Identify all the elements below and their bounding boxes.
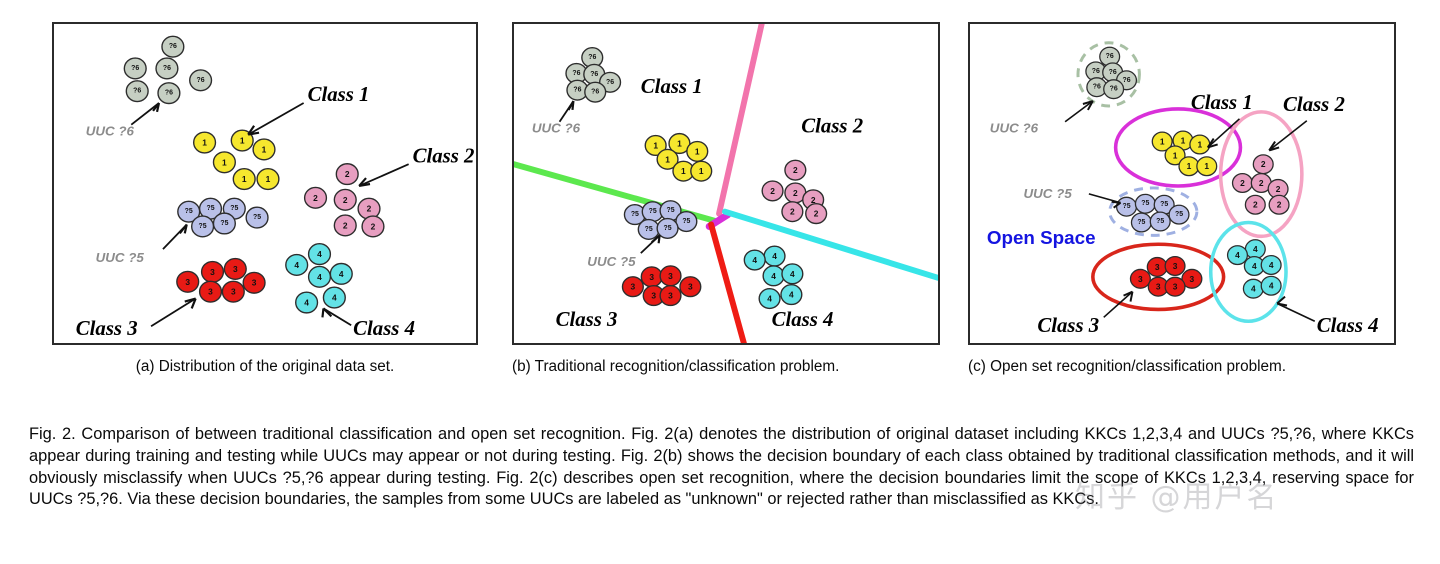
svg-text:2: 2: [343, 195, 348, 205]
svg-text:4: 4: [1253, 244, 1258, 254]
cluster-class1: 1 1 1 1 1 1: [645, 134, 711, 181]
cluster-class4: 4 4 4 4 4 4: [286, 244, 352, 313]
svg-text:?5: ?5: [649, 208, 657, 215]
svg-text:1: 1: [653, 140, 658, 150]
svg-text:?5: ?5: [1175, 211, 1183, 218]
cluster-class4: 4 4 4 4 4 4: [1228, 240, 1281, 298]
cluster-class3: 3 3 3 3 3 3: [177, 259, 265, 302]
svg-text:?6: ?6: [1093, 84, 1101, 91]
svg-text:1: 1: [677, 139, 682, 149]
svg-text:3: 3: [1190, 274, 1195, 284]
svg-text:2: 2: [1261, 159, 1266, 169]
svg-text:1: 1: [262, 144, 267, 154]
svg-text:2: 2: [1253, 200, 1258, 210]
svg-text:2: 2: [1276, 184, 1281, 194]
svg-text:?5: ?5: [631, 211, 639, 218]
panel-b-class3-label: Class 3: [556, 308, 618, 331]
svg-text:?6: ?6: [591, 89, 599, 96]
svg-text:?5: ?5: [1137, 219, 1145, 226]
arrow-uuc5: [163, 224, 187, 249]
cluster-uuc5: ?5 ?5 ?5 ?5 ?5 ?5: [624, 201, 696, 240]
subcaption-b: (b) Traditional recognition/classificati…: [512, 357, 942, 376]
svg-text:?6: ?6: [1106, 53, 1114, 60]
arrow-uuc5: [1089, 194, 1121, 208]
panel-b: ?6 ?6 ?6 ?6 ?6 ?6 1 1 1 1 1 1 2 2 2 2: [512, 22, 940, 345]
svg-text:1: 1: [242, 174, 247, 184]
cluster-class3: 3 3 3 3 3 3: [622, 266, 700, 306]
panel-b-uuc6-label: UUC ?6: [532, 121, 581, 136]
svg-text:?6: ?6: [588, 54, 596, 61]
panel-b-class4-label: Class 4: [772, 308, 834, 331]
panel-a-class4-label: Class 4: [353, 317, 415, 340]
panel-a-class3-label: Class 3: [76, 317, 138, 340]
svg-text:4: 4: [294, 260, 299, 270]
arrow-class4: [1277, 297, 1315, 322]
panel-a: ?6 ?6 ?6 ?6 ?6 ?6 1 1 1 1 1 1 2 2 2 2: [52, 22, 478, 345]
svg-text:2: 2: [814, 209, 819, 219]
figure-caption: Fig. 2. Comparison of between traditiona…: [29, 424, 1414, 511]
svg-text:4: 4: [772, 251, 777, 261]
svg-text:4: 4: [767, 294, 772, 304]
arrow-uuc6: [560, 101, 574, 122]
panel-a-uuc5-label: UUC ?5: [96, 250, 145, 265]
panel-c-uuc6-label: UUC ?6: [990, 121, 1039, 136]
svg-text:3: 3: [688, 282, 693, 292]
svg-text:?5: ?5: [220, 220, 228, 227]
svg-text:2: 2: [1259, 178, 1264, 188]
svg-text:4: 4: [1235, 250, 1240, 260]
panel-b-plot: ?6 ?6 ?6 ?6 ?6 ?6 1 1 1 1 1 1 2 2 2 2: [514, 24, 938, 343]
svg-text:?5: ?5: [1156, 218, 1164, 225]
svg-text:1: 1: [1187, 161, 1192, 171]
svg-text:3: 3: [1155, 262, 1160, 272]
svg-text:?6: ?6: [133, 88, 141, 95]
pink-boundary: [719, 24, 762, 214]
svg-text:1: 1: [202, 138, 207, 148]
svg-text:2: 2: [1277, 200, 1282, 210]
arrow-uuc6: [131, 103, 159, 125]
svg-text:?5: ?5: [682, 218, 690, 225]
svg-text:4: 4: [1269, 281, 1274, 291]
svg-text:?5: ?5: [199, 223, 207, 230]
cluster-class2: 2 2 2 2 2 2: [762, 160, 826, 223]
svg-text:?5: ?5: [185, 208, 193, 215]
svg-text:1: 1: [665, 154, 670, 164]
svg-text:?6: ?6: [1122, 77, 1130, 84]
svg-text:3: 3: [1173, 282, 1178, 292]
svg-text:4: 4: [1251, 284, 1256, 294]
subcaption-a: (a) Distribution of the original data se…: [52, 357, 478, 376]
svg-text:3: 3: [233, 264, 238, 274]
svg-text:?6: ?6: [606, 79, 614, 86]
figure-container: ?6 ?6 ?6 ?6 ?6 ?6 1 1 1 1 1 1 2 2 2 2: [0, 0, 1440, 564]
svg-text:1: 1: [222, 157, 227, 167]
svg-text:2: 2: [770, 186, 775, 196]
svg-text:4: 4: [317, 272, 322, 282]
svg-text:2: 2: [790, 207, 795, 217]
svg-text:2: 2: [793, 188, 798, 198]
svg-text:?5: ?5: [1122, 203, 1130, 210]
svg-text:?5: ?5: [253, 214, 261, 221]
cluster-class1: 1 1 1 1 1 1: [1152, 131, 1216, 175]
svg-text:1: 1: [1160, 137, 1165, 147]
svg-text:3: 3: [631, 282, 636, 292]
panel-c: ?6 ?6 ?6 ?6 ?6 ?6 1 1 1 1 1 1 2 2 2 2: [968, 22, 1396, 345]
panel-c-class2-label: Class 2: [1283, 93, 1345, 116]
svg-text:?6: ?6: [1110, 86, 1118, 93]
svg-text:4: 4: [771, 271, 776, 281]
svg-text:3: 3: [185, 277, 190, 287]
svg-text:2: 2: [1240, 178, 1245, 188]
svg-text:2: 2: [345, 169, 350, 179]
svg-text:2: 2: [793, 165, 798, 175]
cluster-uuc6: ?6 ?6 ?6 ?6 ?6 ?6: [124, 36, 211, 103]
arrow-uuc6: [1065, 101, 1093, 122]
svg-text:?5: ?5: [206, 205, 214, 212]
svg-text:1: 1: [1181, 136, 1186, 146]
panel-a-class2-label: Class 2: [413, 144, 475, 167]
arrow-class1: [248, 103, 303, 135]
panel-c-uuc5-label: UUC ?5: [1023, 186, 1072, 201]
svg-text:2: 2: [367, 204, 372, 214]
svg-text:1: 1: [266, 174, 271, 184]
svg-text:3: 3: [651, 291, 656, 301]
panel-c-plot: ?6 ?6 ?6 ?6 ?6 ?6 1 1 1 1 1 1 2 2 2 2: [970, 24, 1394, 343]
svg-text:1: 1: [681, 166, 686, 176]
svg-text:1: 1: [1204, 161, 1209, 171]
svg-text:?6: ?6: [165, 90, 173, 97]
cluster-class4: 4 4 4 4 4 4: [744, 246, 802, 308]
panel-c-class4-label: Class 4: [1317, 314, 1379, 337]
svg-text:4: 4: [304, 298, 309, 308]
svg-text:4: 4: [332, 293, 337, 303]
svg-text:3: 3: [1173, 261, 1178, 271]
arrow-class2: [359, 164, 409, 186]
svg-text:3: 3: [252, 278, 257, 288]
svg-text:?5: ?5: [1141, 200, 1149, 207]
cluster-class2: 2 2 2 2 2 2: [1233, 155, 1289, 214]
arrow-class3: [151, 299, 196, 327]
svg-text:1: 1: [1197, 139, 1202, 149]
svg-text:?6: ?6: [590, 71, 598, 78]
svg-text:3: 3: [208, 287, 213, 297]
svg-text:4: 4: [752, 255, 757, 265]
svg-text:3: 3: [668, 271, 673, 281]
panel-c-class3-label: Class 3: [1037, 314, 1099, 337]
cluster-class1: 1 1 1 1 1 1: [194, 130, 279, 189]
svg-text:?5: ?5: [230, 205, 238, 212]
panel-b-uuc5-label: UUC ?5: [587, 254, 636, 269]
cluster-class3: 3 3 3 3 3 3: [1130, 257, 1201, 297]
svg-text:1: 1: [240, 136, 245, 146]
panel-b-class2-label: Class 2: [801, 115, 863, 138]
svg-text:4: 4: [1252, 261, 1257, 271]
svg-text:?5: ?5: [664, 225, 672, 232]
svg-text:?5: ?5: [666, 207, 674, 214]
cluster-uuc5: ?5 ?5 ?5 ?5 ?5 ?5: [178, 198, 268, 237]
svg-text:?5: ?5: [645, 226, 653, 233]
svg-text:3: 3: [1156, 282, 1161, 292]
panel-a-class1-label: Class 1: [308, 83, 370, 106]
svg-text:?6: ?6: [1092, 68, 1100, 75]
cluster-uuc6: ?6 ?6 ?6 ?6 ?6 ?6: [566, 48, 620, 102]
svg-text:2: 2: [343, 220, 348, 230]
svg-text:1: 1: [695, 146, 700, 156]
svg-text:2: 2: [371, 221, 376, 231]
arrow-class4: [322, 308, 351, 325]
cluster-uuc6: ?6 ?6 ?6 ?6 ?6 ?6: [1086, 47, 1137, 98]
panel-b-class1-label: Class 1: [641, 75, 703, 98]
panel-c-class1-label: Class 1: [1191, 91, 1253, 114]
panel-c-open-space-label: Open Space: [987, 227, 1096, 248]
svg-text:1: 1: [1173, 150, 1178, 160]
subcaption-c: (c) Open set recognition/classification …: [968, 357, 1398, 376]
svg-text:?6: ?6: [573, 87, 581, 94]
svg-text:?6: ?6: [163, 65, 171, 72]
svg-text:3: 3: [649, 272, 654, 282]
svg-text:?6: ?6: [572, 70, 580, 77]
svg-text:?6: ?6: [197, 77, 205, 84]
panel-a-plot: ?6 ?6 ?6 ?6 ?6 ?6 1 1 1 1 1 1 2 2 2 2: [54, 24, 476, 343]
svg-text:?6: ?6: [1109, 69, 1117, 76]
svg-text:1: 1: [699, 166, 704, 176]
svg-text:?5: ?5: [1160, 201, 1168, 208]
svg-text:4: 4: [789, 290, 794, 300]
svg-text:4: 4: [790, 269, 795, 279]
svg-text:?6: ?6: [131, 65, 139, 72]
svg-text:2: 2: [313, 193, 318, 203]
svg-text:?6: ?6: [169, 43, 177, 50]
svg-text:4: 4: [317, 249, 322, 259]
svg-text:3: 3: [1138, 274, 1143, 284]
svg-text:4: 4: [339, 269, 344, 279]
red-boundary: [711, 224, 744, 343]
panel-a-uuc6-label: UUC ?6: [86, 124, 135, 139]
svg-text:4: 4: [1269, 260, 1274, 270]
cluster-uuc5: ?5 ?5 ?5 ?5 ?5 ?5: [1117, 194, 1189, 232]
svg-text:3: 3: [668, 291, 673, 301]
cluster-class2: 2 2 2 2 2 2: [305, 164, 384, 237]
svg-text:3: 3: [210, 267, 215, 277]
svg-text:3: 3: [231, 287, 236, 297]
